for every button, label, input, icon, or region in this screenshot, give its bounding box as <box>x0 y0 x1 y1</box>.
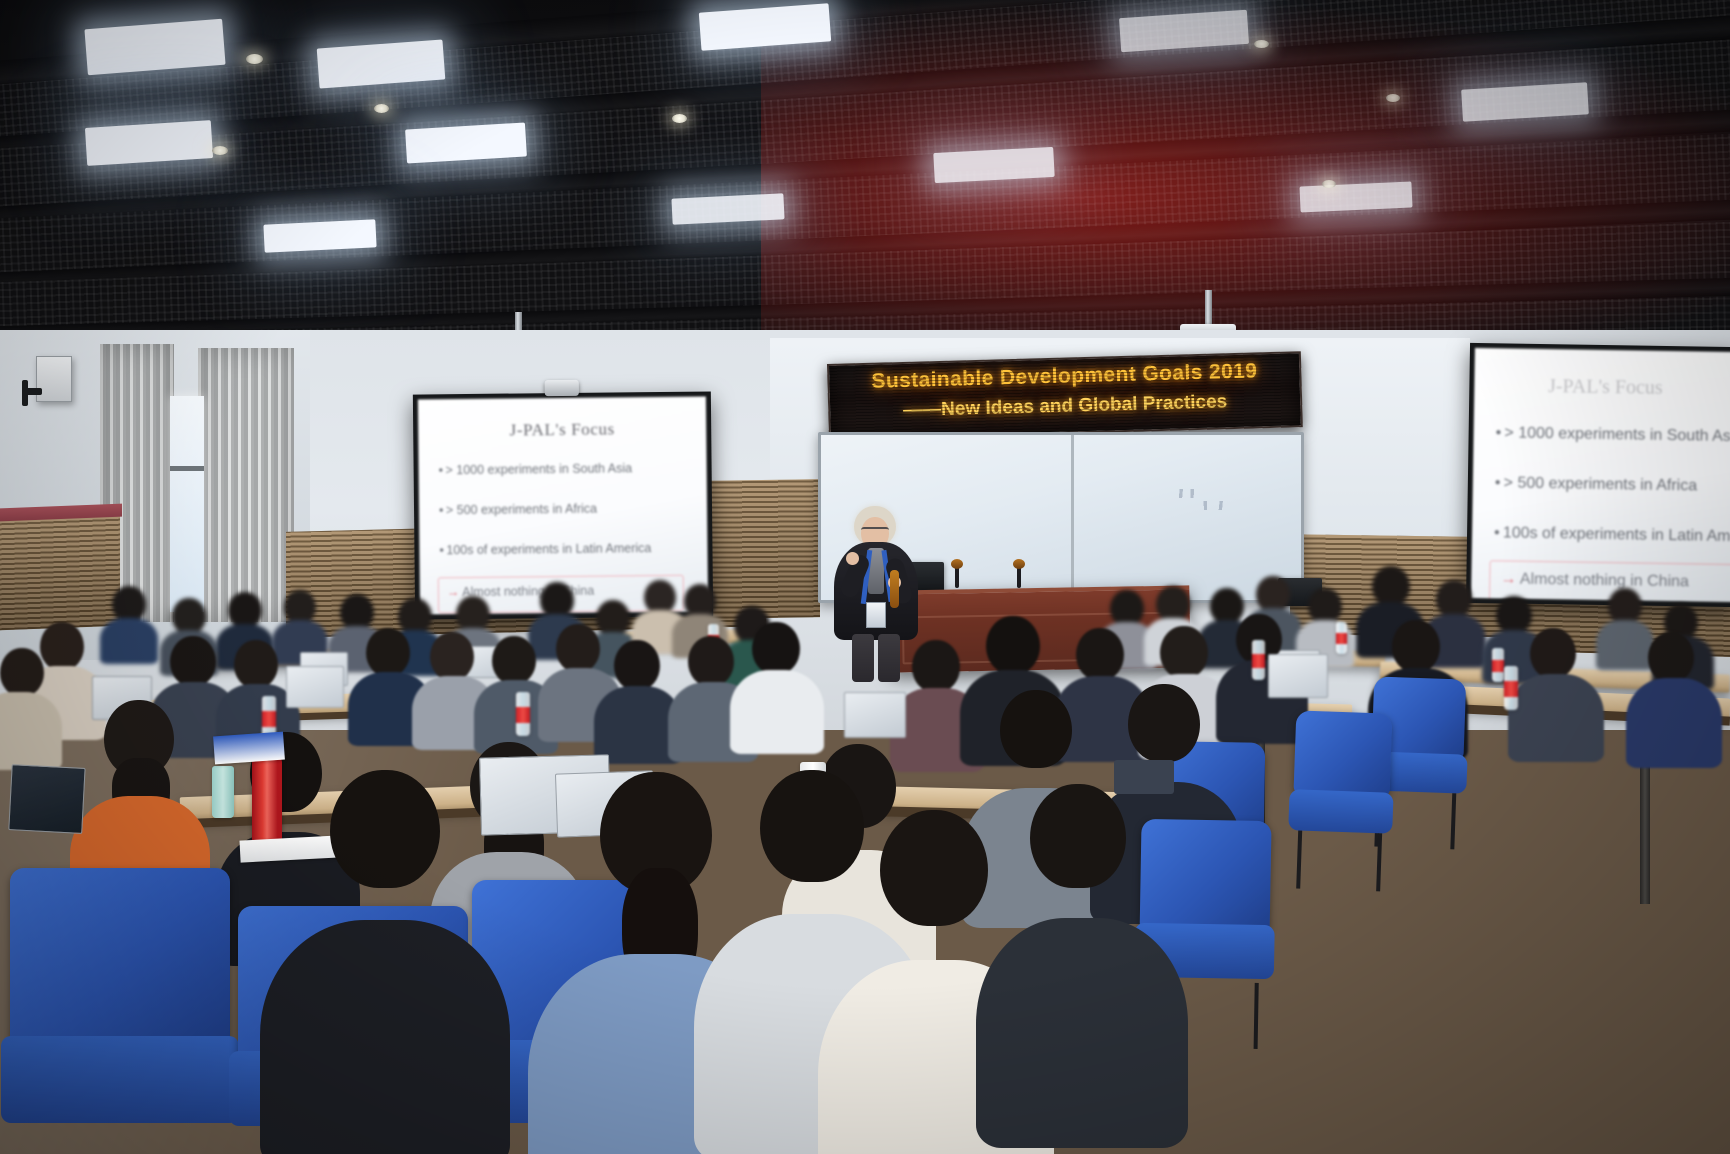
glasses-icon <box>861 527 889 534</box>
water-bottle <box>1504 666 1518 710</box>
ceiling-downlight <box>374 104 389 113</box>
window-mullion <box>170 466 204 471</box>
slide-bullet-3: •100s of experiments in Latin America <box>439 541 651 557</box>
slide-highlight-text: Almost nothing in China <box>462 584 594 599</box>
slide-title: J-PAL's Focus <box>418 418 706 441</box>
slide-bullet-2: •> 500 experiments in Africa <box>439 502 597 518</box>
laptop <box>8 764 83 832</box>
ceiling-light-panel <box>405 122 527 163</box>
red-thermos <box>252 758 282 850</box>
ceiling-downlight <box>246 54 263 64</box>
ceiling-light-panel <box>933 147 1054 183</box>
wall-speaker <box>36 356 72 402</box>
speaker-bracket <box>22 380 28 406</box>
teal-bottle <box>212 766 234 818</box>
slide-title: J-PAL's Focus <box>1474 374 1730 401</box>
table-leg <box>1640 744 1650 904</box>
water-bottle <box>1252 640 1265 680</box>
ceiling-downlight <box>1254 40 1269 48</box>
presenter-hand-left <box>846 552 859 565</box>
ceiling-downlight <box>212 146 228 155</box>
slide-bullet-text: 100s of experiments in Latin America <box>1503 524 1730 545</box>
slide-bullet-text: > 500 experiments in Africa <box>1504 474 1698 494</box>
bullet-marker: • <box>1496 424 1505 442</box>
bullet-marker: • <box>1494 524 1503 542</box>
slide-highlight-text: Almost nothing in China <box>1520 571 1689 591</box>
slide-bullet-3: •100s of experiments in Latin America <box>1494 524 1730 546</box>
badge <box>866 602 886 628</box>
slide-bullet-2: •> 500 experiments in Africa <box>1495 474 1697 495</box>
arrow-icon: → <box>447 585 460 599</box>
slide-highlight-box: → Almost nothing in China <box>1489 560 1730 602</box>
ceiling-light-panel <box>263 219 376 252</box>
led-banner-line-1: Sustainable Development Goals 2019 <box>829 358 1299 395</box>
water-bottle <box>1492 648 1504 682</box>
screen-mount <box>545 380 579 396</box>
led-banner-line-2: ——New Ideas and Global Practices <box>830 389 1300 424</box>
laptop <box>1268 654 1326 696</box>
slide-bullet-1: •> 1000 experiments in South Asia <box>1496 424 1730 446</box>
microphone <box>955 566 959 588</box>
slide-bullet-text: > 1000 experiments in South Asia <box>1504 424 1730 445</box>
chair[interactable] <box>1292 710 1393 849</box>
lecture-hall-photo: J-PAL's Focus •> 1000 experiments in Sou… <box>0 0 1730 1154</box>
ceiling-light-panel <box>671 193 784 224</box>
window <box>170 396 204 612</box>
presenter <box>828 506 924 666</box>
bullet-marker: • <box>1495 474 1504 492</box>
projection-screen-right[interactable]: J-PAL's Focus •> 1000 experiments in Sou… <box>1466 343 1730 607</box>
ceiling-downlight <box>1322 180 1336 188</box>
laptop <box>1114 760 1174 794</box>
laptop <box>844 692 904 736</box>
slide-bullet-text: > 1000 experiments in South Asia <box>445 461 632 477</box>
wood-wall-panel <box>0 516 120 631</box>
arrow-icon: → <box>1500 570 1516 587</box>
water-bottle <box>1336 622 1347 654</box>
ceiling-downlight <box>672 114 687 123</box>
ceiling-light-panel <box>1299 181 1412 212</box>
microphone <box>1017 566 1021 588</box>
slide-bullet-text: 100s of experiments in Latin America <box>446 541 651 557</box>
whiteboard-seam <box>1071 435 1074 600</box>
wood-wall-panel <box>700 479 820 619</box>
ceiling-downlight <box>1386 94 1400 102</box>
handheld-microphone <box>890 570 899 608</box>
slide-bullet-1: •> 1000 experiments in South Asia <box>439 461 633 477</box>
whiteboard-handwriting <box>1173 487 1283 513</box>
curtain <box>198 348 294 622</box>
led-banner: Sustainable Development Goals 2019 ——New… <box>827 351 1303 440</box>
ceiling-light-panel <box>85 120 213 166</box>
booklet <box>213 732 285 765</box>
slide-bullet-text: > 500 experiments in Africa <box>446 502 597 518</box>
water-bottle <box>516 692 530 736</box>
laptop <box>286 666 342 706</box>
presenter-leg <box>852 634 874 682</box>
chair[interactable] <box>10 868 230 1154</box>
presenter-leg <box>878 634 900 682</box>
